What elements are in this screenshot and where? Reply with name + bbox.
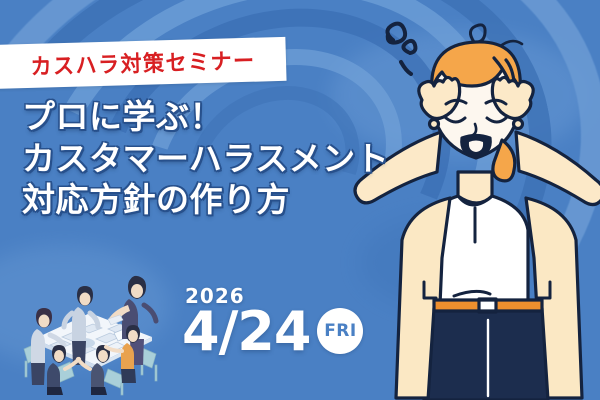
headline-line-1: プロに学ぶ！ bbox=[22, 96, 422, 138]
event-weekday-badge: FRI bbox=[317, 308, 363, 354]
ribbon-label: カスハラ対策セミナー bbox=[16, 44, 256, 82]
seminar-banner: カスハラ対策セミナー プロに学ぶ！ カスタマーハラスメント 対応方針の作り方 2… bbox=[0, 0, 600, 400]
headline-line-3: 対応方針の作り方 bbox=[22, 179, 422, 221]
meeting-table-illustration bbox=[10, 261, 175, 396]
page-title: プロに学ぶ！ カスタマーハラスメント 対応方針の作り方 bbox=[22, 96, 422, 221]
headline-line-2: カスタマーハラスメント bbox=[22, 138, 422, 180]
seminar-category-ribbon: カスハラ対策セミナー bbox=[0, 37, 287, 89]
stress-squiggle-icon bbox=[387, 24, 415, 74]
event-date: 2026 4/24 FRI bbox=[182, 284, 363, 357]
event-day-row: 4/24 FRI bbox=[182, 306, 363, 357]
event-day: 4/24 bbox=[182, 306, 310, 357]
